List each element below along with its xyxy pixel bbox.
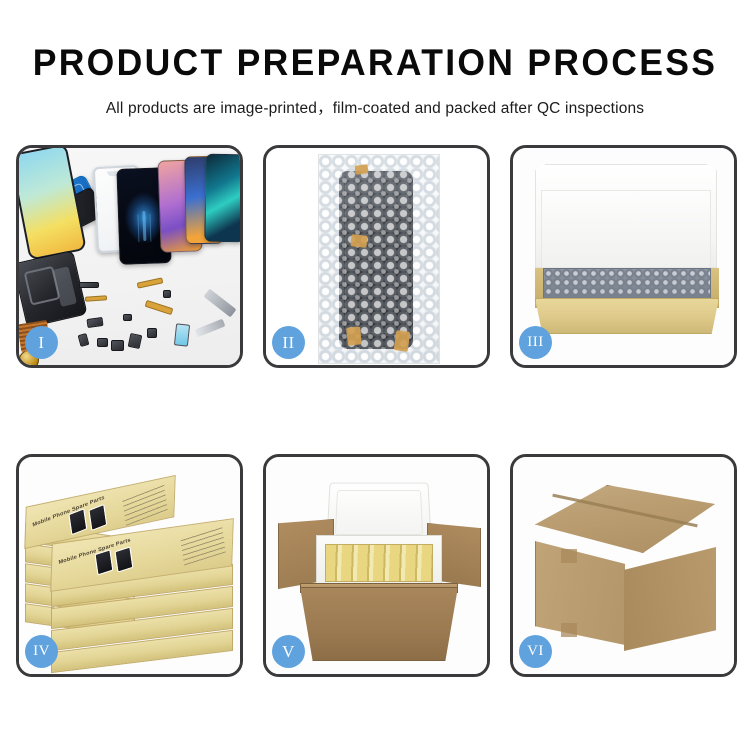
box-label-screen-image xyxy=(114,546,133,572)
step-badge-4: IV xyxy=(25,635,58,668)
small-component xyxy=(128,333,143,349)
small-component xyxy=(78,333,90,347)
process-step-panel-1: I xyxy=(16,145,243,368)
small-component xyxy=(111,340,124,351)
small-component xyxy=(123,314,132,321)
box-front-panel xyxy=(535,298,719,334)
carton-front-panel xyxy=(300,587,458,661)
small-component xyxy=(147,328,157,338)
small-component xyxy=(86,317,103,328)
process-step-grid: I II xyxy=(16,145,738,677)
box-label-spec-lines xyxy=(122,483,168,526)
carton-left-face xyxy=(535,541,625,645)
step-badge-5: V xyxy=(272,635,305,668)
bubble-wrap-fill xyxy=(543,268,711,302)
tape-strip xyxy=(346,326,362,345)
process-step-panel-4: Mobile Phone Spare Parts Mobile Phone Sp… xyxy=(16,454,243,677)
process-step-panel-2: II xyxy=(263,145,490,368)
header: PRODUCT PREPARATION PROCESS All products… xyxy=(0,0,750,118)
process-step-panel-5: V xyxy=(263,454,490,677)
phone-back-housing xyxy=(16,250,88,328)
carton-tab xyxy=(561,549,577,563)
box-label-screen-image xyxy=(94,549,113,575)
small-display-part xyxy=(174,323,190,346)
tape-strip xyxy=(354,164,368,175)
tape-strip xyxy=(350,234,367,248)
box-label-screen-image xyxy=(88,504,107,531)
bubble-wrap-texture xyxy=(319,155,439,363)
small-component xyxy=(79,282,99,288)
bubble-wrap-bag xyxy=(318,154,440,364)
process-step-panel-6: VI xyxy=(510,454,737,677)
product-preparation-infographic: PRODUCT PREPARATION PROCESS All products… xyxy=(0,0,750,750)
tweezers-tool xyxy=(204,289,237,318)
page-title: PRODUCT PREPARATION PROCESS xyxy=(15,44,735,81)
step-badge-3: III xyxy=(519,326,552,359)
flex-cable xyxy=(85,295,107,302)
phone-front-assembly xyxy=(16,145,87,261)
carton-right-face xyxy=(624,547,716,651)
box-label-spec-lines xyxy=(180,525,226,565)
tape-strip xyxy=(394,330,411,352)
box-stack: Mobile Phone Spare Parts Mobile Phone Sp… xyxy=(23,479,238,667)
box-label-screen-image xyxy=(68,508,87,535)
small-component xyxy=(97,338,108,347)
packed-retail-boxes xyxy=(325,544,433,582)
page-subtitle: All products are image-printed，film-coat… xyxy=(0,96,750,118)
small-component xyxy=(163,290,171,298)
process-step-panel-3: III xyxy=(510,145,737,368)
step-badge-2: II xyxy=(272,326,305,359)
carton-tab xyxy=(561,623,577,637)
step-badge-6: VI xyxy=(519,635,552,668)
foam-sheet xyxy=(541,190,711,268)
flex-cable xyxy=(145,300,174,315)
screwdriver-tool xyxy=(195,319,226,338)
phone-screen-teal xyxy=(204,154,243,243)
step-badge-1: I xyxy=(25,326,58,359)
flex-cable xyxy=(137,277,164,288)
